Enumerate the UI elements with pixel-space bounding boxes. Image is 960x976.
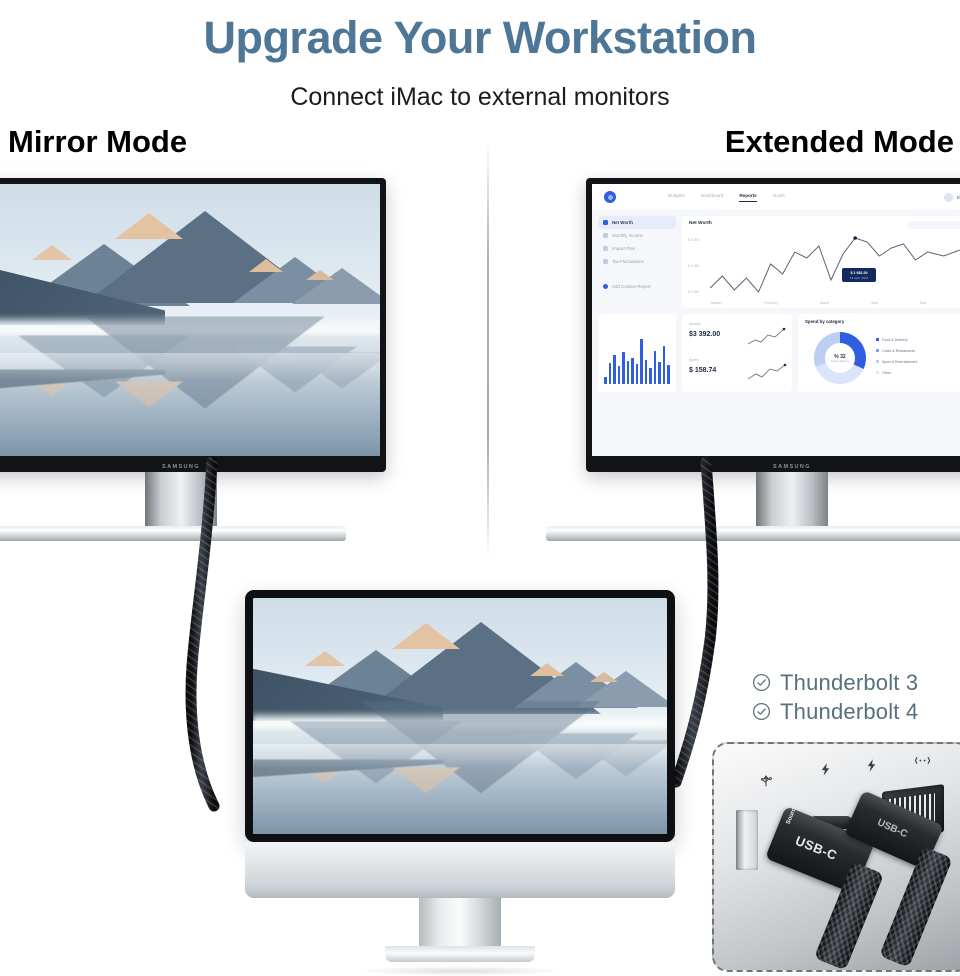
plus-circle-icon <box>603 284 608 289</box>
legend-swatch <box>876 360 879 363</box>
dashboard-sidebar: Net Worth Monthly Income Impact Plan <box>598 216 676 293</box>
thunderbolt-icon <box>864 758 879 773</box>
monitor-brand-logo: SAMSUNG <box>0 464 386 470</box>
usb-icon <box>758 772 774 788</box>
legend-swatch <box>876 338 879 341</box>
user-menu[interactable]: Elna Edison <box>944 193 960 202</box>
monitor-stand-base <box>0 526 346 541</box>
legend-item: Food & Delivery $ 724.10 <box>876 334 960 345</box>
sparkline-income <box>746 326 788 348</box>
thunderbolt-icon <box>818 762 833 777</box>
legend-swatch <box>876 371 879 374</box>
usb-c-label-secondary: USB-C <box>876 817 909 840</box>
mountain-wallpaper <box>0 184 380 456</box>
report-icon <box>603 220 608 225</box>
sparkline-spent <box>746 362 788 384</box>
source-label: Source <box>786 804 799 825</box>
tooltip-date: 15 April, 2019 <box>850 276 868 280</box>
external-monitor-right: Budgets Dashboard Reports Goals Elna Edi… <box>586 178 960 472</box>
imac-stand-neck <box>419 898 501 946</box>
cable-right-texture <box>676 462 713 782</box>
avatar <box>944 193 953 202</box>
x-tick: January <box>710 301 722 305</box>
sidebar-item-label: Tax Fluctuations <box>612 259 644 264</box>
x-tick: April <box>871 301 878 305</box>
usb-c-label: USB-C <box>793 833 839 863</box>
monitor-bezel: Budgets Dashboard Reports Goals Elna Edi… <box>586 178 960 472</box>
port-closeup-inset: USB-C Source USB-C <box>712 742 960 972</box>
kpi-card: Income $3 392.00 Spent $ 158.74 <box>682 314 792 392</box>
x-tick: May <box>920 301 926 305</box>
tab-dashboard[interactable]: Dashboard <box>701 193 723 202</box>
donut-chart: % 32 Food & Delivery <box>814 332 866 384</box>
legend-item: Sport & Entertainment $ 318.35 <box>876 356 960 367</box>
feature-label: Thunderbolt 4 <box>780 699 918 725</box>
feature-list: Thunderbolt 3 Thunderbolt 4 <box>752 668 918 726</box>
imac-screen <box>253 598 667 834</box>
sidebar-item-add-custom-report[interactable]: Add Custom Report <box>598 280 676 293</box>
section-divider <box>487 140 489 560</box>
mountain-wallpaper <box>253 598 667 834</box>
tab-budgets[interactable]: Budgets <box>668 193 685 202</box>
feature-thunderbolt-3: Thunderbolt 3 <box>752 668 918 697</box>
feature-label: Thunderbolt 3 <box>780 670 918 696</box>
monitor-stand-base <box>546 526 960 541</box>
tab-reports[interactable]: Reports <box>739 193 756 202</box>
x-axis: January February March April May June <box>710 301 960 305</box>
monitor-stand-neck <box>145 472 217 530</box>
x-tick: February <box>764 301 778 305</box>
income-icon <box>603 233 608 238</box>
plan-icon <box>603 246 608 251</box>
feature-thunderbolt-4: Thunderbolt 4 <box>752 697 918 726</box>
user-name: Elna Edison <box>957 195 960 200</box>
legend-label: Other <box>882 371 891 375</box>
monitor-screen-right: Budgets Dashboard Reports Goals Elna Edi… <box>592 184 960 456</box>
app-logo-icon <box>604 191 616 203</box>
bar-chart <box>604 332 670 384</box>
dashboard-topbar: Budgets Dashboard Reports Goals Elna Edi… <box>592 184 960 210</box>
tab-goals[interactable]: Goals <box>773 193 785 202</box>
legend-label: Sport & Entertainment <box>882 360 917 364</box>
tax-icon <box>603 259 608 264</box>
extended-mode-label: Extended Mode <box>725 124 954 160</box>
legend-item: Other $ 164.22 <box>876 367 960 378</box>
legend-swatch <box>876 349 879 352</box>
tooltip-value: $ 1 682.20 <box>851 271 868 275</box>
spend-by-category-card: Spend by category % 32 Food & Delivery F… <box>798 314 960 392</box>
finance-dashboard: Budgets Dashboard Reports Goals Elna Edi… <box>592 184 960 456</box>
donut-caption: Food & Delivery <box>831 360 849 363</box>
check-circle-icon <box>752 702 771 721</box>
donut-title: Spend by category <box>805 319 844 324</box>
page-title: Upgrade Your Workstation <box>0 14 960 61</box>
cable-right <box>676 462 713 782</box>
monitor-stand-neck <box>756 472 828 530</box>
product-infographic: Upgrade Your Workstation Connect iMac to… <box>0 0 960 960</box>
chart-tooltip: $ 1 682.20 15 April, 2019 <box>842 268 876 282</box>
dashboard-tabs: Budgets Dashboard Reports Goals <box>668 193 785 202</box>
imac-shadow <box>355 966 565 976</box>
sidebar-item-monthly-income[interactable]: Monthly Income <box>598 229 676 242</box>
bar-chart-card <box>598 314 676 392</box>
ethernet-icon <box>914 752 931 769</box>
x-tick: March <box>820 301 829 305</box>
imac-chin <box>245 842 675 898</box>
mirror-mode-label: Mirror Mode <box>8 124 187 160</box>
donut-legend: Food & Delivery $ 724.10 Cafés & Restaur… <box>876 334 960 378</box>
legend-label: Food & Delivery <box>882 338 908 342</box>
check-circle-icon <box>752 673 771 692</box>
sidebar-item-label: Add Custom Report <box>612 284 651 289</box>
imac-computer <box>245 590 675 976</box>
legend-label: Cafés & Restaurants <box>882 349 915 353</box>
page-subtitle: Connect iMac to external monitors <box>0 83 960 112</box>
net-worth-line <box>682 216 960 308</box>
sidebar-item-label: Impact Plan <box>612 246 635 251</box>
monitor-bezel: SAMSUNG <box>0 178 386 472</box>
sidebar-item-label: Monthly Income <box>612 233 643 238</box>
sidebar-item-label: Net Worth <box>612 220 633 225</box>
imac-bezel <box>245 590 675 842</box>
legend-item: Cafés & Restaurants $ 412.62 <box>876 345 960 356</box>
monitor-screen-left <box>0 184 380 456</box>
usb-a-port <box>736 810 758 870</box>
sidebar-item-impact-plan[interactable]: Impact Plan <box>598 242 676 255</box>
external-monitor-left: SAMSUNG <box>0 178 386 472</box>
net-worth-chart-card: Net Worth $ 3 000 $ 2 000 $ 1 000 $ 1 68… <box>682 216 960 308</box>
monitor-brand-logo: SAMSUNG <box>586 464 960 470</box>
sidebar-item-tax-fluctuations[interactable]: Tax Fluctuations <box>598 255 676 268</box>
sidebar-item-net-worth[interactable]: Net Worth <box>598 216 676 229</box>
